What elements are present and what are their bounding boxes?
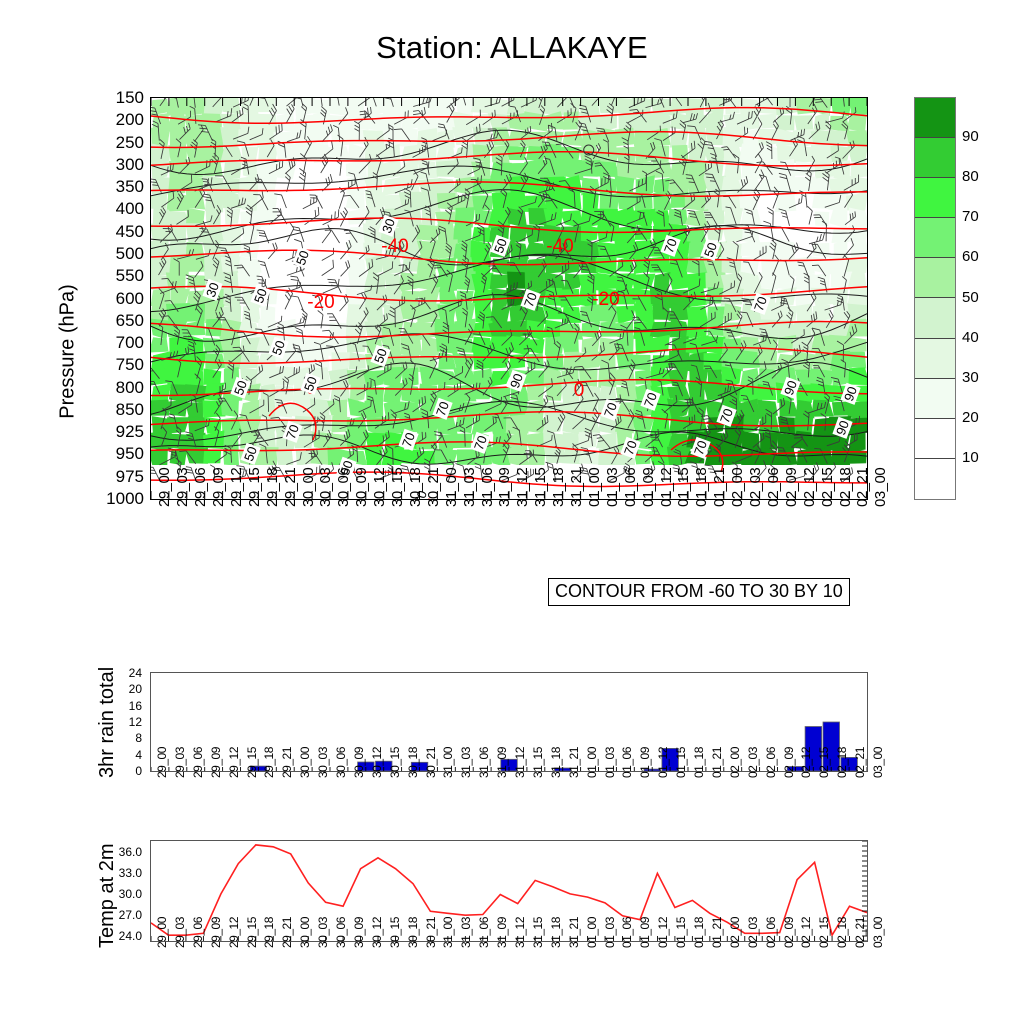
x-axis-tick-label: 01_12 <box>656 917 670 948</box>
main-y-axis: 1502002503003504004505005506006507007508… <box>60 88 144 508</box>
x-axis-tick-label: 02_15 <box>819 468 836 507</box>
x-axis-tick-label: 30_00 <box>298 917 312 948</box>
x-axis-tick-label: 31_06 <box>477 747 491 778</box>
x-axis-tick-label: 30_15 <box>389 468 406 507</box>
rain-y-tick: 16 <box>102 700 142 712</box>
x-axis-tick-label: 30_03 <box>317 468 334 507</box>
x-axis-tick-label: 02_00 <box>728 917 742 948</box>
x-axis-tick-label: 31_06 <box>479 468 496 507</box>
x-axis-tick-label: 29_18 <box>262 917 276 948</box>
main-y-tick: 250 <box>64 134 144 151</box>
colorbar-label: 90 <box>962 128 979 145</box>
x-axis-tick-label: 30_06 <box>335 468 352 507</box>
x-axis-tick-label: 31_09 <box>496 468 513 507</box>
x-axis-tick-label: 02_12 <box>801 468 818 507</box>
colorbar-label: 10 <box>962 449 979 466</box>
x-axis-tick-label: 30_06 <box>334 917 348 948</box>
x-axis-tick-label: 29_06 <box>191 747 205 778</box>
temp-x-axis-ticks: 29_0029_0329_0629_0929_1229_1529_1829_21… <box>150 946 868 1006</box>
x-axis-tick-label: 01_09 <box>640 468 657 507</box>
rain-x-axis-ticks: 29_0029_0329_0629_0929_1229_1529_1829_21… <box>150 776 868 836</box>
x-axis-tick-label: 01_00 <box>586 468 603 507</box>
main-y-tick: 925 <box>64 423 144 440</box>
main-y-tick: 500 <box>64 245 144 262</box>
x-axis-tick-label: 29_06 <box>191 917 205 948</box>
main-y-axis-label-wrap: Pressure (hPa) <box>22 170 48 430</box>
x-axis-tick-label: 31_00 <box>443 468 460 507</box>
x-axis-tick-label: 01_09 <box>638 917 652 948</box>
x-axis-tick-label: 30_12 <box>370 917 384 948</box>
x-axis-tick-label: 30_18 <box>406 917 420 948</box>
x-axis-tick-label: 29_21 <box>280 917 294 948</box>
colorbar-label: 30 <box>962 369 979 386</box>
x-axis-tick-label: 29_03 <box>173 917 187 948</box>
x-axis-tick-label: 30_18 <box>406 747 420 778</box>
x-axis-tick-label: 31_12 <box>513 747 527 778</box>
x-axis-tick-label: 29_12 <box>227 747 241 778</box>
x-axis-tick-label: 29_06 <box>192 468 209 507</box>
x-axis-tick-label: 01_03 <box>604 468 621 507</box>
x-axis-tick-label: 02_09 <box>783 468 800 507</box>
x-axis-tick-label: 29_18 <box>262 747 276 778</box>
x-axis-tick-label: 01_18 <box>693 468 710 507</box>
x-axis-tick-label: 29_09 <box>209 917 223 948</box>
main-y-tick: 200 <box>64 111 144 128</box>
x-axis-tick-label: 29_21 <box>280 747 294 778</box>
contour-label: 0 <box>574 380 585 401</box>
x-axis-tick-label: 29_00 <box>155 747 169 778</box>
x-axis-tick-label: 30_09 <box>352 747 366 778</box>
x-axis-tick-label: 01_18 <box>692 747 706 778</box>
x-axis-tick-label: 31_00 <box>441 747 455 778</box>
rain-y-tick: 12 <box>102 716 142 728</box>
x-axis-tick-label: 01_00 <box>585 917 599 948</box>
svg-text:-20: -20 <box>307 292 334 313</box>
x-axis-tick-label: 31_09 <box>495 917 509 948</box>
x-axis-tick-label: 29_03 <box>173 747 187 778</box>
x-axis-tick-label: 03_00 <box>872 468 889 507</box>
x-axis-tick-label: 31_00 <box>441 917 455 948</box>
x-axis-tick-label: 31_09 <box>495 747 509 778</box>
x-axis-tick-label: 01_09 <box>638 747 652 778</box>
x-axis-tick-label: 03_00 <box>871 747 885 778</box>
x-axis-tick-label: 02_12 <box>799 747 813 778</box>
x-axis-tick-label: 30_12 <box>370 747 384 778</box>
x-axis-tick-label: 29_00 <box>155 917 169 948</box>
x-axis-tick-label: 02_09 <box>782 747 796 778</box>
x-axis-tick-label: 02_09 <box>782 917 796 948</box>
x-axis-tick-label: 29_21 <box>282 468 299 507</box>
x-axis-tick-label: 31_15 <box>531 747 545 778</box>
colorbar-label: 20 <box>962 409 979 426</box>
x-axis-tick-label: 01_03 <box>603 917 617 948</box>
x-axis-tick-label: 02_21 <box>853 747 867 778</box>
colorbar-label: 60 <box>962 248 979 265</box>
x-axis-tick-label: 30_09 <box>353 468 370 507</box>
x-axis-tick-label: 31_21 <box>568 468 585 507</box>
svg-text:0: 0 <box>574 380 585 401</box>
x-axis-tick-label: 29_18 <box>264 468 281 507</box>
x-axis-tick-label: 30_21 <box>424 747 438 778</box>
x-axis-tick-label: 30_03 <box>316 747 330 778</box>
x-axis-tick-label: 02_15 <box>817 917 831 948</box>
x-axis-tick-label: 31_12 <box>513 917 527 948</box>
x-axis-tick-label: 02_00 <box>728 747 742 778</box>
x-axis-tick-label: 01_06 <box>622 468 639 507</box>
temp-y-tick: 27.0 <box>102 909 142 921</box>
main-y-tick: 300 <box>64 156 144 173</box>
contour-label: -20 <box>307 292 334 313</box>
x-axis-tick-label: 30_18 <box>407 468 424 507</box>
x-axis-tick-label: 01_06 <box>620 917 634 948</box>
page-title: Station: ALLAKAYE <box>0 30 1024 66</box>
contour-plot-panel[interactable]: -40-40-20-200020203050505030507070705050… <box>150 97 868 500</box>
x-axis-tick-label: 30_15 <box>388 747 402 778</box>
main-y-tick: 850 <box>64 401 144 418</box>
x-axis-tick-label: 01_21 <box>710 917 724 948</box>
x-axis-tick-label: 29_03 <box>174 468 191 507</box>
svg-text:-40: -40 <box>546 236 573 257</box>
x-axis-tick-label: 29_15 <box>245 747 259 778</box>
main-y-tick: 350 <box>64 178 144 195</box>
contour-label: -20 <box>592 289 619 310</box>
x-axis-tick-label: 31_06 <box>477 917 491 948</box>
temp-y-axis: 36.033.030.027.024.0 <box>100 836 146 946</box>
x-axis-tick-label: 31_15 <box>532 468 549 507</box>
x-axis-tick-label: 29_15 <box>245 917 259 948</box>
x-axis-tick-label: 30_15 <box>388 917 402 948</box>
x-axis-tick-label: 02_12 <box>799 917 813 948</box>
x-axis-tick-label: 30_06 <box>334 747 348 778</box>
x-axis-tick-label: 02_06 <box>765 468 782 507</box>
svg-text:-20: -20 <box>592 289 619 310</box>
x-axis-tick-label: 31_03 <box>461 468 478 507</box>
x-axis-tick-label: 02_06 <box>764 917 778 948</box>
x-axis-tick-label: 31_18 <box>549 917 563 948</box>
x-axis-tick-label: 01_12 <box>658 468 675 507</box>
main-y-tick: 1000 <box>64 490 144 507</box>
x-axis-tick-label: 03_00 <box>871 917 885 948</box>
x-axis-tick-label: 29_09 <box>210 468 227 507</box>
main-y-tick: 950 <box>64 445 144 462</box>
contour-range-note: CONTOUR FROM -60 TO 30 BY 10 <box>548 578 850 606</box>
x-axis-tick-label: 01_12 <box>656 747 670 778</box>
main-y-tick: 450 <box>64 223 144 240</box>
x-axis-tick-label: 31_18 <box>550 468 567 507</box>
x-axis-tick-label: 01_06 <box>620 747 634 778</box>
x-axis-tick-label: 30_00 <box>298 747 312 778</box>
rain-y-tick: 0 <box>102 765 142 777</box>
x-axis-tick-label: 02_18 <box>837 468 854 507</box>
main-y-tick: 650 <box>64 312 144 329</box>
x-axis-tick-label: 29_12 <box>227 917 241 948</box>
x-axis-tick-label: 29_00 <box>156 468 173 507</box>
x-axis-tick-label: 01_15 <box>674 747 688 778</box>
colorbar-label: 70 <box>962 208 979 225</box>
x-axis-tick-label: 31_18 <box>549 747 563 778</box>
x-axis-tick-label: 02_21 <box>853 917 867 948</box>
x-axis-tick-label: 31_21 <box>567 917 581 948</box>
main-y-tick: 600 <box>64 290 144 307</box>
x-axis-tick-label: 01_03 <box>603 747 617 778</box>
x-axis-tick-label: 30_12 <box>371 468 388 507</box>
x-axis-tick-label: 29_09 <box>209 747 223 778</box>
x-axis-tick-label: 29_12 <box>228 468 245 507</box>
main-y-tick: 975 <box>64 468 144 485</box>
rain-y-tick: 8 <box>102 732 142 744</box>
x-axis-tick-label: 31_03 <box>459 917 473 948</box>
x-axis-tick-label: 31_15 <box>531 917 545 948</box>
temp-y-tick: 30.0 <box>102 888 142 900</box>
x-axis-tick-label: 31_21 <box>567 747 581 778</box>
main-y-tick: 750 <box>64 356 144 373</box>
rain-y-tick: 4 <box>102 749 142 761</box>
rain-y-tick: 24 <box>102 667 142 679</box>
main-y-tick: 700 <box>64 334 144 351</box>
x-axis-tick-label: 02_03 <box>746 917 760 948</box>
x-axis-tick-label: 31_03 <box>459 747 473 778</box>
contour-label: -40 <box>546 236 573 257</box>
colorbar-label: 80 <box>962 168 979 185</box>
main-y-tick: 550 <box>64 267 144 284</box>
x-axis-tick-label: 31_12 <box>514 468 531 507</box>
temp-y-tick: 33.0 <box>102 867 142 879</box>
x-axis-tick-label: 30_09 <box>352 917 366 948</box>
contour-plot-svg: -40-40-20-200020203050505030507070705050… <box>151 98 867 499</box>
colorbar-labels: 908070605040302010 <box>914 97 1024 500</box>
x-axis-tick-label: 02_15 <box>817 747 831 778</box>
x-axis-tick-label: 01_21 <box>710 747 724 778</box>
x-axis-tick-label: 30_21 <box>425 468 442 507</box>
x-axis-tick-label: 02_03 <box>746 747 760 778</box>
rain-y-axis: 24201612840 <box>100 668 146 776</box>
x-axis-tick-label: 30_03 <box>316 917 330 948</box>
x-axis-tick-label: 02_18 <box>835 917 849 948</box>
svg-text:-40: -40 <box>381 236 408 257</box>
x-axis-tick-label: 02_21 <box>854 468 871 507</box>
x-axis-tick-label: 01_15 <box>674 917 688 948</box>
x-axis-tick-label: 01_15 <box>675 468 692 507</box>
x-axis-tick-label: 30_00 <box>300 468 317 507</box>
x-axis-tick-label: 02_18 <box>835 747 849 778</box>
x-axis-tick-label: 01_18 <box>692 917 706 948</box>
main-y-tick: 400 <box>64 200 144 217</box>
x-axis-tick-label: 01_00 <box>585 747 599 778</box>
x-axis-tick-label: 02_00 <box>729 468 746 507</box>
colorbar-label: 40 <box>962 329 979 346</box>
contour-label: -40 <box>381 236 408 257</box>
x-axis-tick-label: 02_03 <box>747 468 764 507</box>
main-x-axis-ticks: 29_0029_0329_0629_0929_1229_1529_1829_21… <box>150 505 868 585</box>
main-y-tick: 800 <box>64 379 144 396</box>
temp-y-tick: 24.0 <box>102 930 142 942</box>
main-y-tick: 150 <box>64 89 144 106</box>
x-axis-tick-label: 01_21 <box>711 468 728 507</box>
x-axis-tick-label: 02_06 <box>764 747 778 778</box>
rain-y-tick: 20 <box>102 683 142 695</box>
x-axis-tick-label: 30_21 <box>424 917 438 948</box>
temp-y-tick: 36.0 <box>102 846 142 858</box>
x-axis-tick-label: 29_15 <box>246 468 263 507</box>
colorbar-label: 50 <box>962 289 979 306</box>
